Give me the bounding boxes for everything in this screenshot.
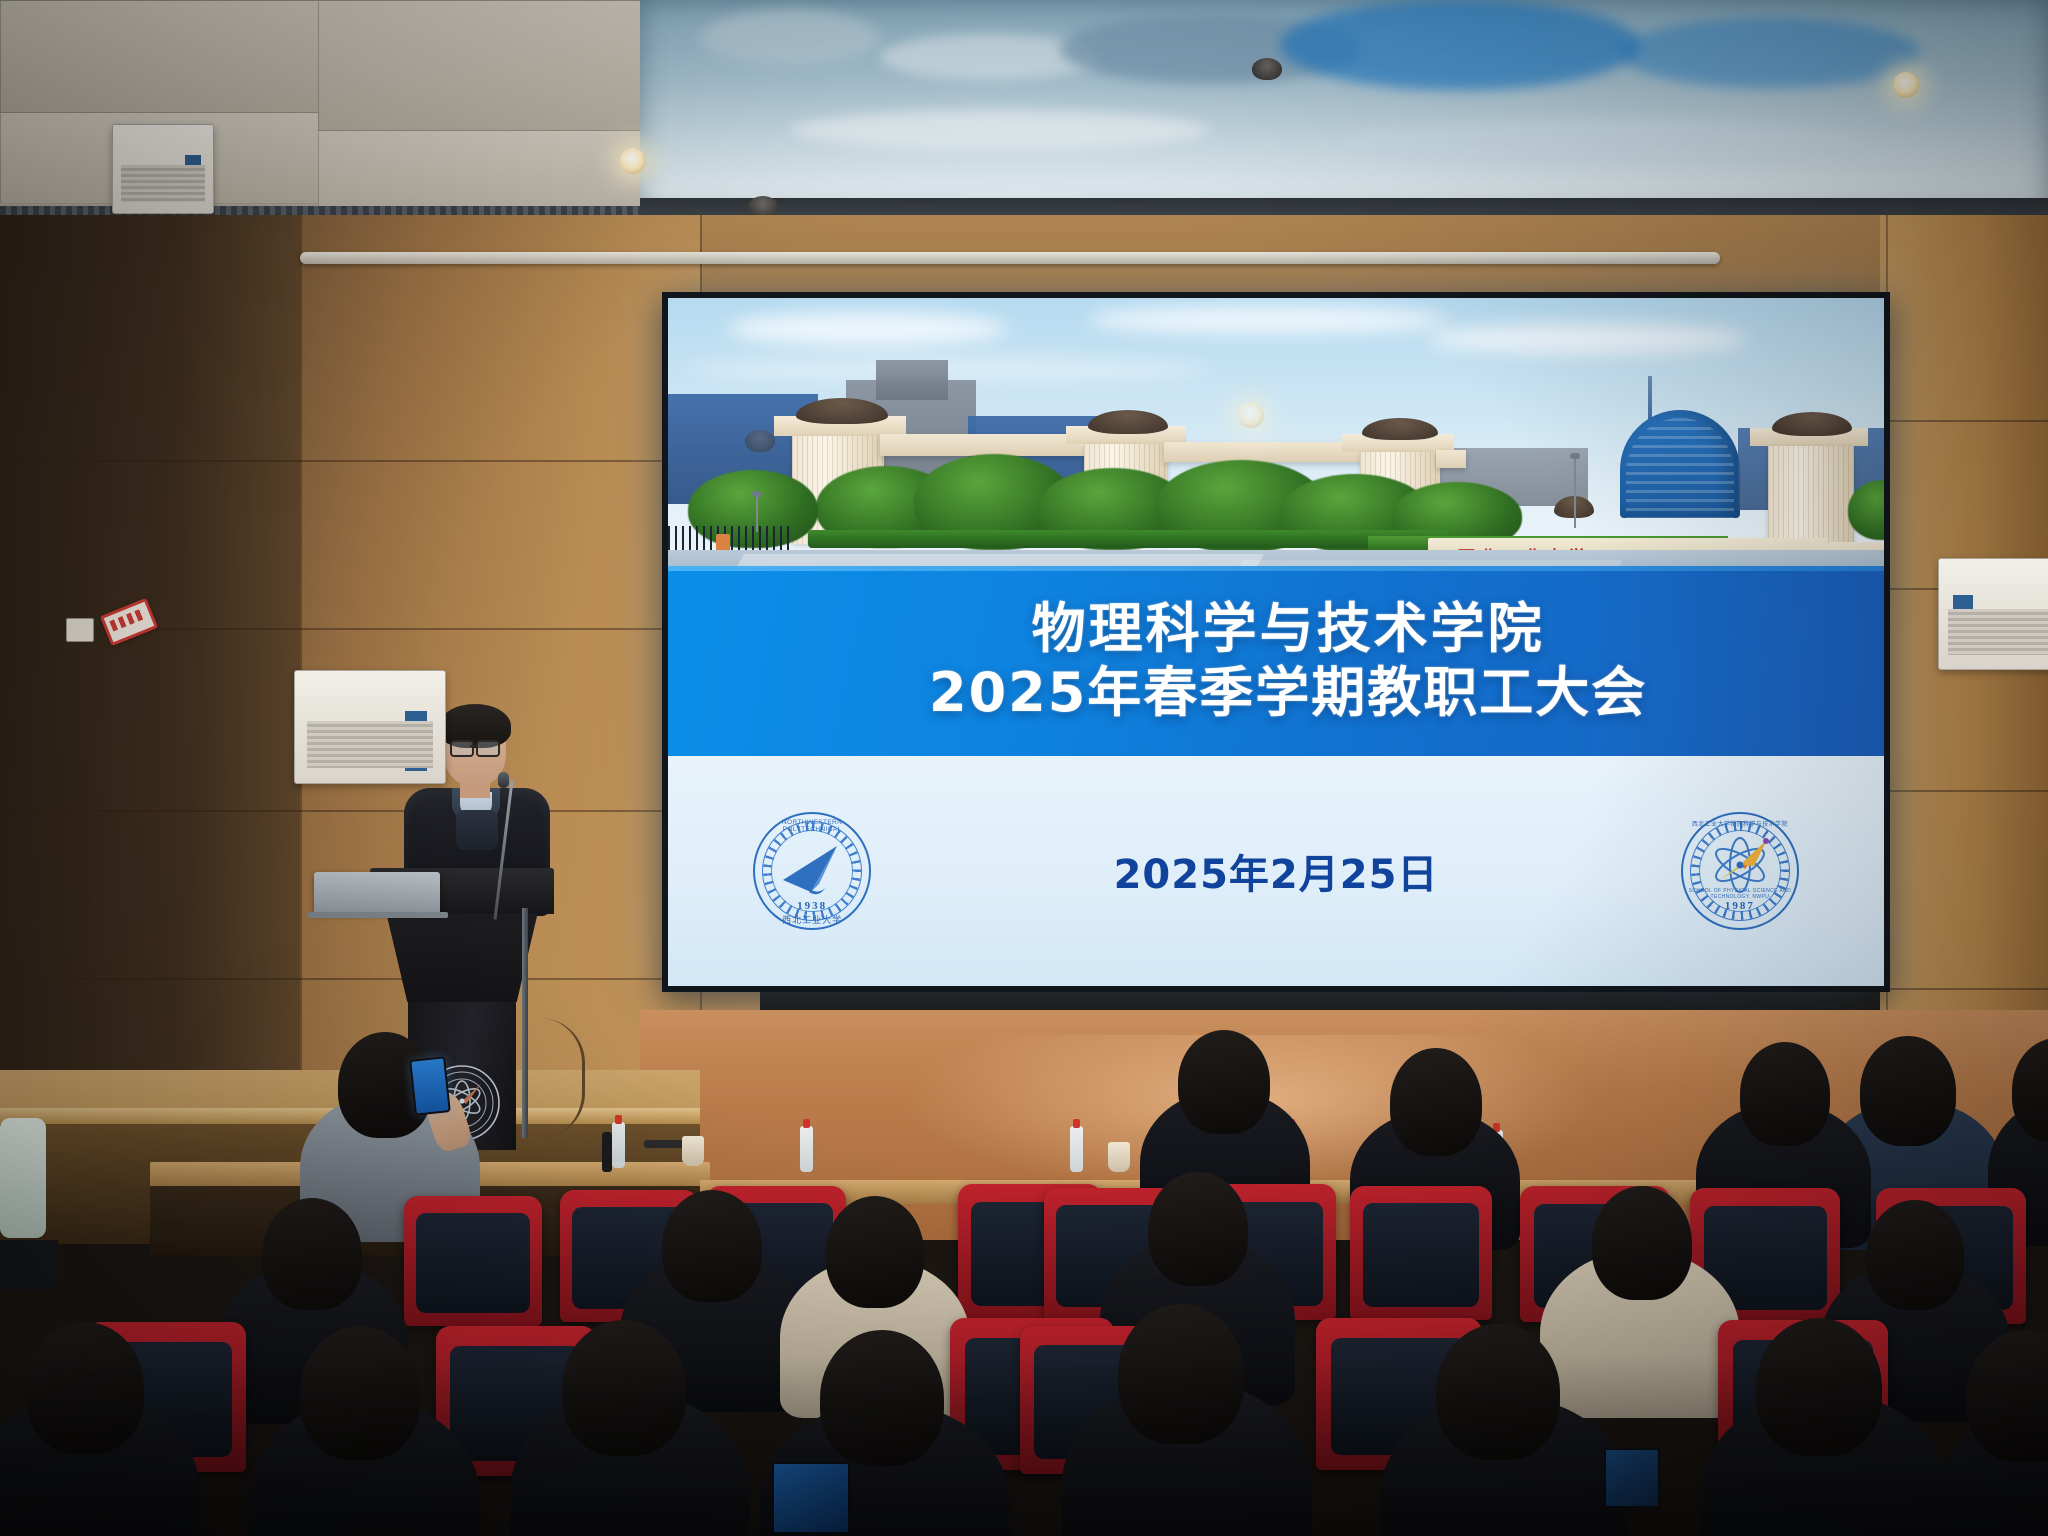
- smartphone-recording[interactable]: [409, 1056, 451, 1115]
- slide-footer-band: NORTHWESTERN POLYTECHNICAL 1938 西北工业大学 2…: [668, 756, 1884, 986]
- ceiling-reflection: [640, 0, 2048, 212]
- tablet-device[interactable]: [1604, 1448, 1660, 1508]
- audience-head: [1148, 1172, 1248, 1286]
- tablet-device[interactable]: [772, 1462, 850, 1534]
- physics-school-emblem: 西北工业大学物理科学与技术学院 1987 S: [1681, 812, 1799, 930]
- audience-head: [1436, 1324, 1560, 1460]
- slide-title-band: 物理科学与技术学院 2025年春季学期教职工大会: [668, 566, 1884, 755]
- auditorium-seat[interactable]: [1350, 1186, 1492, 1320]
- slide-campus-photo: 西北工业大学: [668, 298, 1884, 566]
- desk-microphone: [602, 1132, 612, 1172]
- physics-emblem-arc-bottom: SCHOOL OF PHYSICAL SCIENCE AND TECHNOLOG…: [1681, 888, 1799, 900]
- physics-emblem-arc-top: 西北工业大学物理科学与技术学院: [1681, 819, 1799, 828]
- slide-title-line1: 物理科学与技术学院: [929, 600, 1647, 658]
- screen-rail: [300, 252, 1720, 264]
- laptop-base: [308, 912, 448, 918]
- audience-head: [662, 1190, 762, 1302]
- audience-head: [1118, 1304, 1244, 1444]
- water-bottle: [612, 1122, 625, 1168]
- audience-head: [1860, 1036, 1956, 1146]
- audience-head: [1866, 1200, 1964, 1310]
- nwpu-emblem-year: 1938: [753, 900, 871, 912]
- audience-head: [562, 1320, 686, 1456]
- nwpu-emblem-chinese: 西北工业大学: [753, 913, 871, 926]
- spotlight: [620, 148, 646, 174]
- water-bottle: [1070, 1126, 1083, 1172]
- paper-cup: [1108, 1142, 1130, 1172]
- water-cooler: [0, 1118, 46, 1238]
- auditorium-seat[interactable]: [404, 1196, 542, 1326]
- water-cooler-base: [0, 1240, 58, 1290]
- mic-stand-post: [522, 908, 528, 1138]
- water-bottle: [800, 1126, 813, 1172]
- audience-head: [26, 1322, 144, 1454]
- spotlight: [1893, 72, 1919, 98]
- audience-head: [300, 1326, 420, 1460]
- eyeglasses-icon: [450, 740, 500, 753]
- audience-head: [262, 1198, 362, 1310]
- microphone-head-icon: [498, 772, 509, 788]
- ceiling-ac-unit: [294, 670, 446, 784]
- paper-cup: [682, 1136, 704, 1166]
- light-switch: [66, 618, 94, 642]
- audience-head: [1756, 1318, 1882, 1456]
- ceiling-speaker-icon: [745, 430, 775, 452]
- audience-head: [826, 1196, 924, 1308]
- audience-head: [1740, 1042, 1830, 1146]
- ceiling-ac-unit: [112, 124, 214, 214]
- audience-head: [820, 1330, 944, 1466]
- physics-emblem-year: 1987: [1681, 900, 1799, 912]
- paper-plane-icon: [775, 840, 849, 896]
- auditorium-photo: 西北工业大学 物理科学与技术学院 2025年春季学期教职工大会: [0, 0, 2048, 1536]
- slide-date: 2025年2月25日: [1114, 842, 1439, 900]
- audience-head: [1390, 1048, 1482, 1156]
- audience-head: [1178, 1030, 1270, 1134]
- laptop: [314, 872, 440, 914]
- ceiling-ac-unit: [1938, 558, 2048, 670]
- spotlight: [1238, 402, 1264, 428]
- audience-head: [1592, 1186, 1692, 1300]
- projection-screen: 西北工业大学 物理科学与技术学院 2025年春季学期教职工大会: [662, 292, 1890, 992]
- nwpu-emblem-arc-top: NORTHWESTERN POLYTECHNICAL: [753, 819, 871, 833]
- slide-title-line2: 2025年春季学期教职工大会: [929, 664, 1647, 722]
- wood-wall-shadowed: [0, 215, 300, 1155]
- nwpu-university-emblem: NORTHWESTERN POLYTECHNICAL 1938 西北工业大学: [753, 812, 871, 930]
